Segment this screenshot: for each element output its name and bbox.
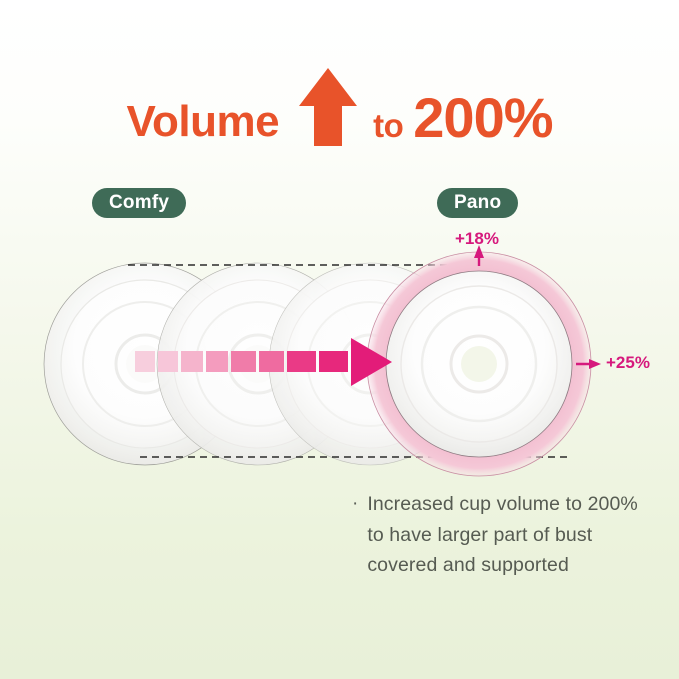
measurement-label-top: +18%: [455, 229, 499, 249]
feature-description-text: Increased cup volume to 200% to have lar…: [367, 489, 652, 581]
headline: Volume to 200%: [0, 56, 679, 148]
pano-cup: [367, 252, 591, 476]
growth-arrow-icon: [135, 338, 392, 386]
promo-graphic: Volume to 200% Comfy Pano: [0, 0, 679, 679]
ghost-cup-3: [269, 263, 471, 465]
headline-word-200: 200%: [413, 90, 552, 148]
ghost-cup-2: [157, 263, 359, 465]
badge-pano: Pano: [437, 188, 518, 218]
up-arrow-icon: [297, 66, 359, 148]
badge-comfy: Comfy: [92, 188, 186, 218]
ghost-cup-1: [44, 263, 246, 465]
bullet-marker: ·: [352, 489, 358, 581]
feature-description: · Increased cup volume to 200% to have l…: [352, 489, 652, 581]
headline-word-to: to: [359, 109, 413, 148]
right-measure-arrow-icon: [576, 359, 601, 369]
measurement-label-right: +25%: [606, 353, 650, 373]
headline-word-volume: Volume: [126, 100, 279, 148]
